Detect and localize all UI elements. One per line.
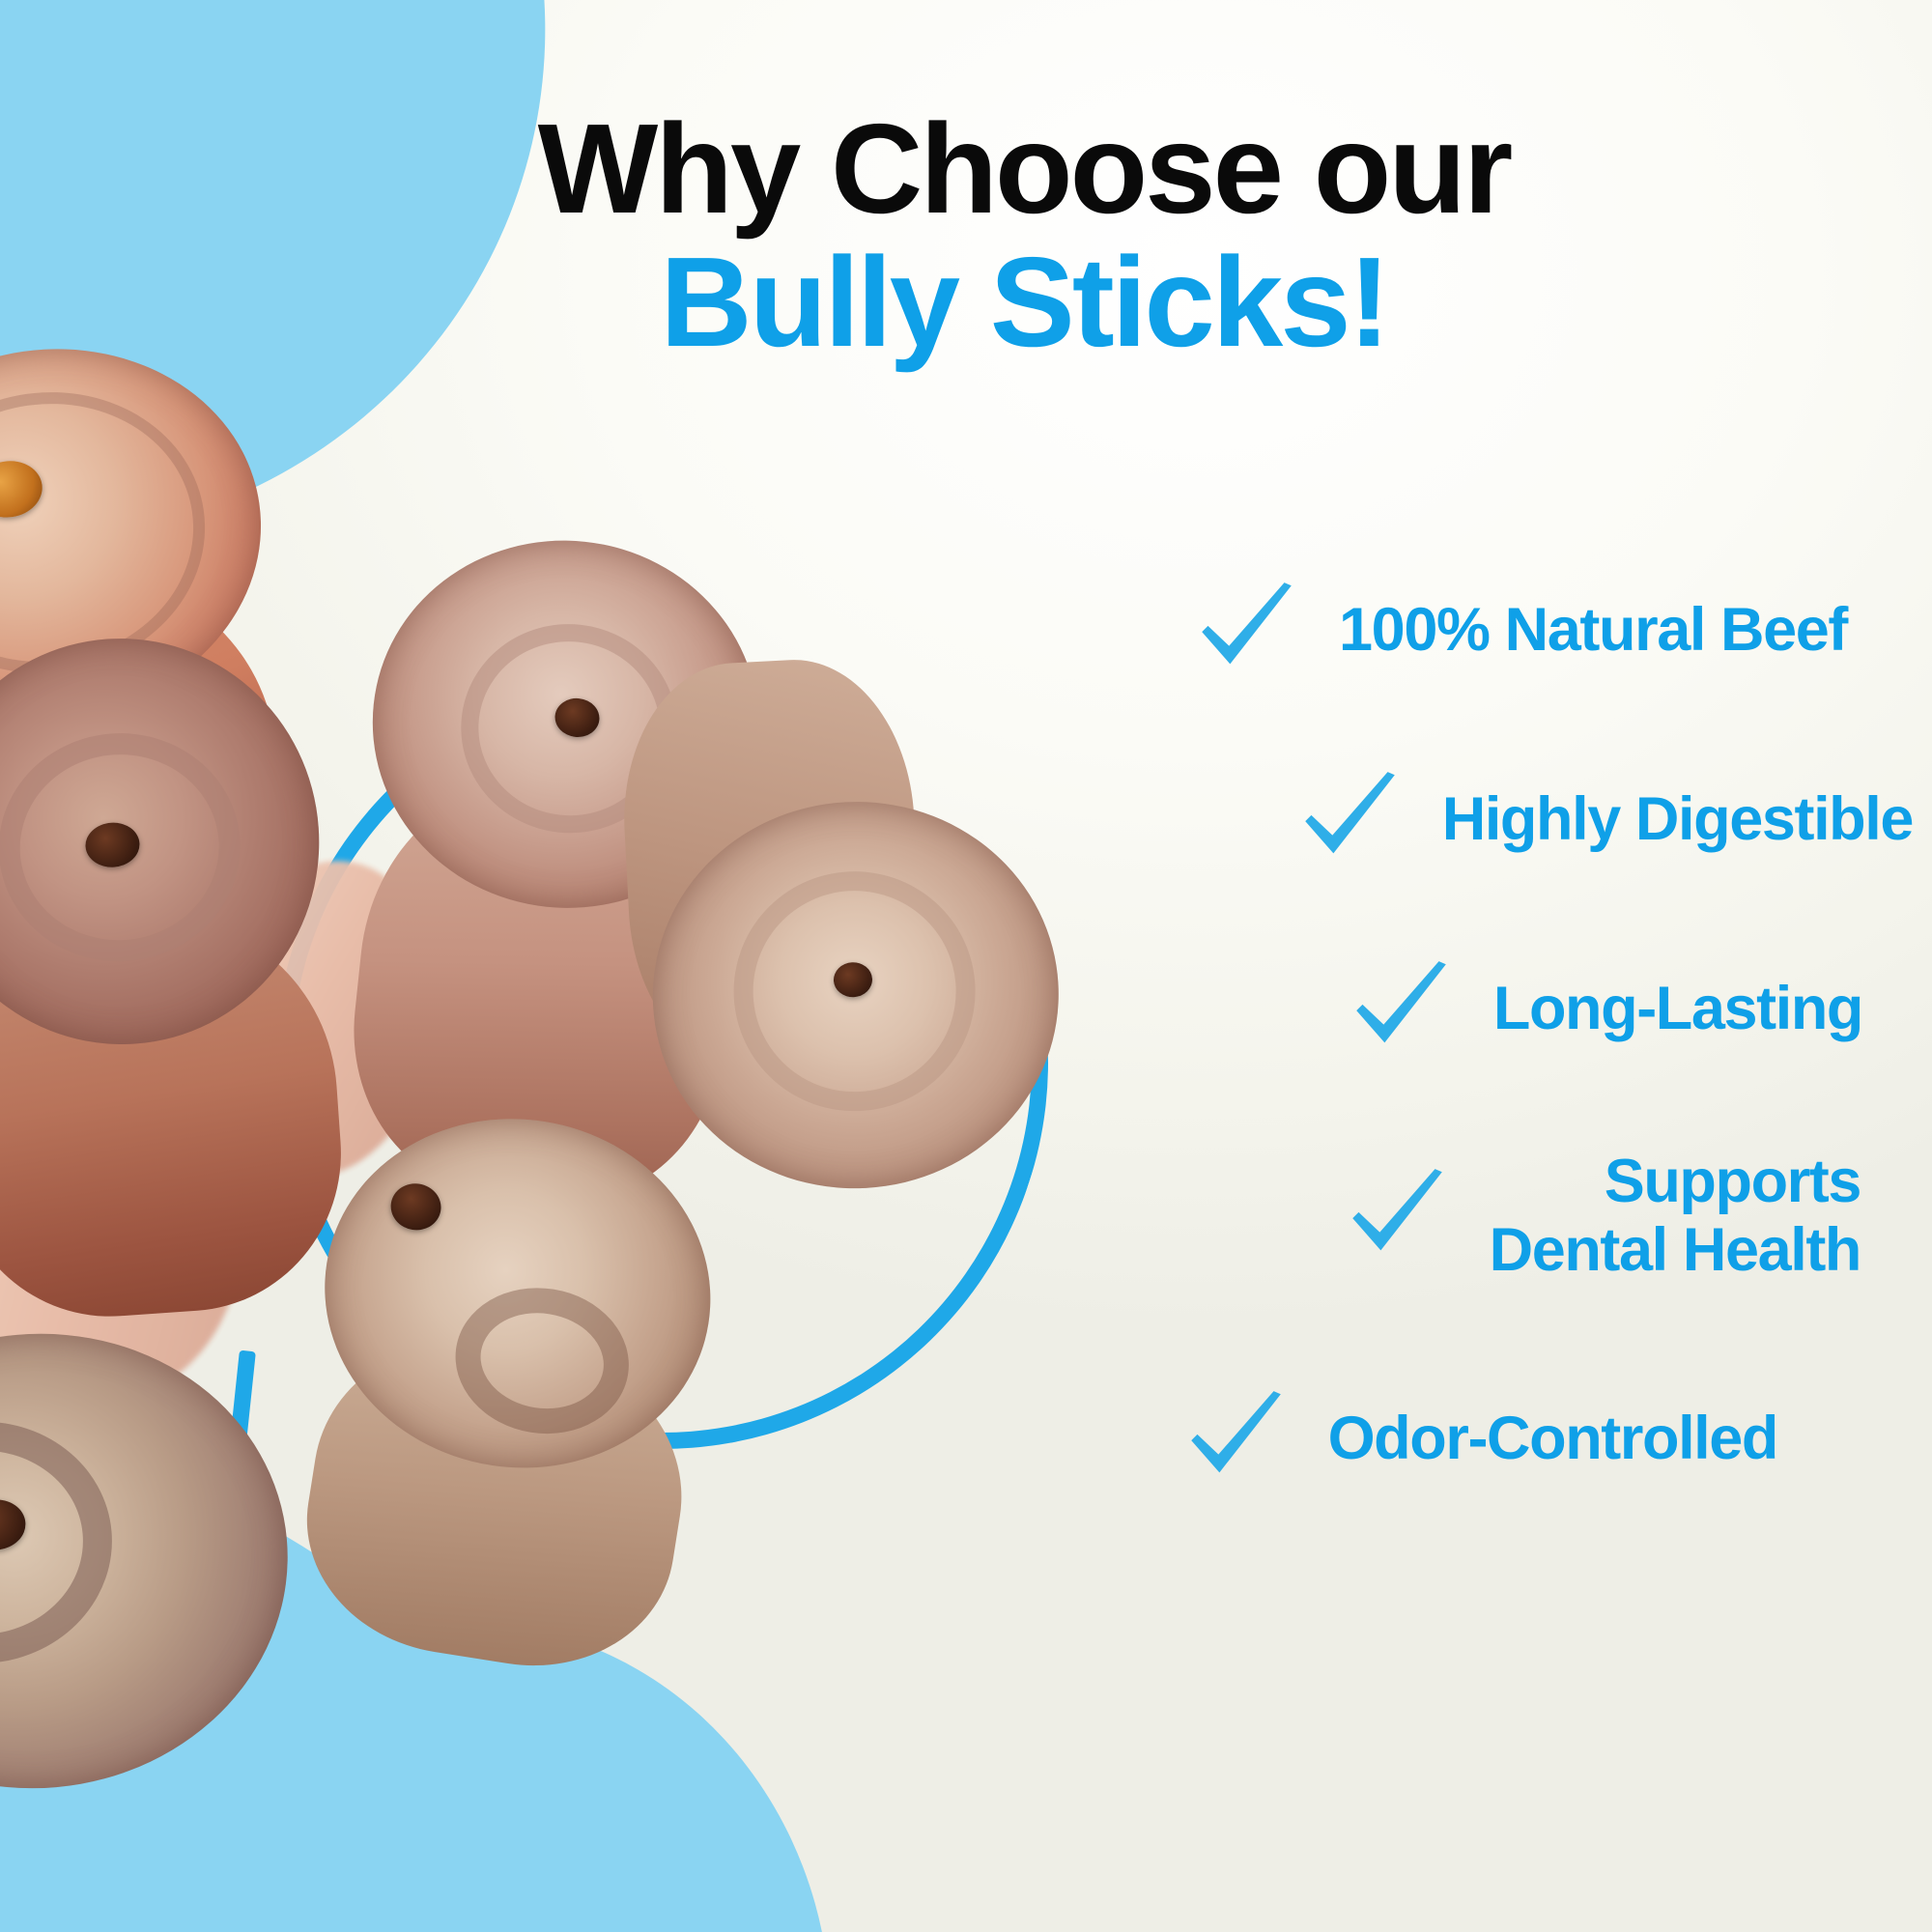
page-title: Why Choose our Bully Sticks! [0,102,1932,370]
benefit-item: Supports Dental Health [1065,1148,1861,1284]
checkmark-icon [1350,958,1451,1059]
checkmark-icon [1185,1388,1286,1489]
checkmark-icon [1299,769,1400,869]
benefit-label: Highly Digestible [1442,785,1913,854]
benefit-item: Odor-Controlled [1065,1388,1777,1489]
benefit-label: Odor-Controlled [1328,1405,1777,1473]
benefits-list: 100% Natural Beef Highly Digestible Long… [1065,580,1857,1577]
benefit-item: Highly Digestible [1065,769,1913,869]
promo-poster: Why Choose our Bully Sticks! [0,0,1932,1932]
checkmark-icon [1347,1166,1447,1266]
bully-stick [0,1311,330,1857]
bully-stick [0,624,371,1327]
bully-stick [270,1092,764,1690]
checkmark-icon [1196,580,1296,680]
benefit-label: Long-Lasting [1493,975,1862,1043]
benefit-item: Long-Lasting [1065,958,1862,1059]
headline-line-1: Why Choose our [116,102,1932,235]
benefit-item: 100% Natural Beef [1065,580,1847,680]
product-photo [0,319,1034,1826]
benefit-label: 100% Natural Beef [1339,596,1847,665]
headline-line-2: Bully Sticks! [116,235,1932,370]
benefit-label: Supports Dental Health [1490,1148,1861,1284]
